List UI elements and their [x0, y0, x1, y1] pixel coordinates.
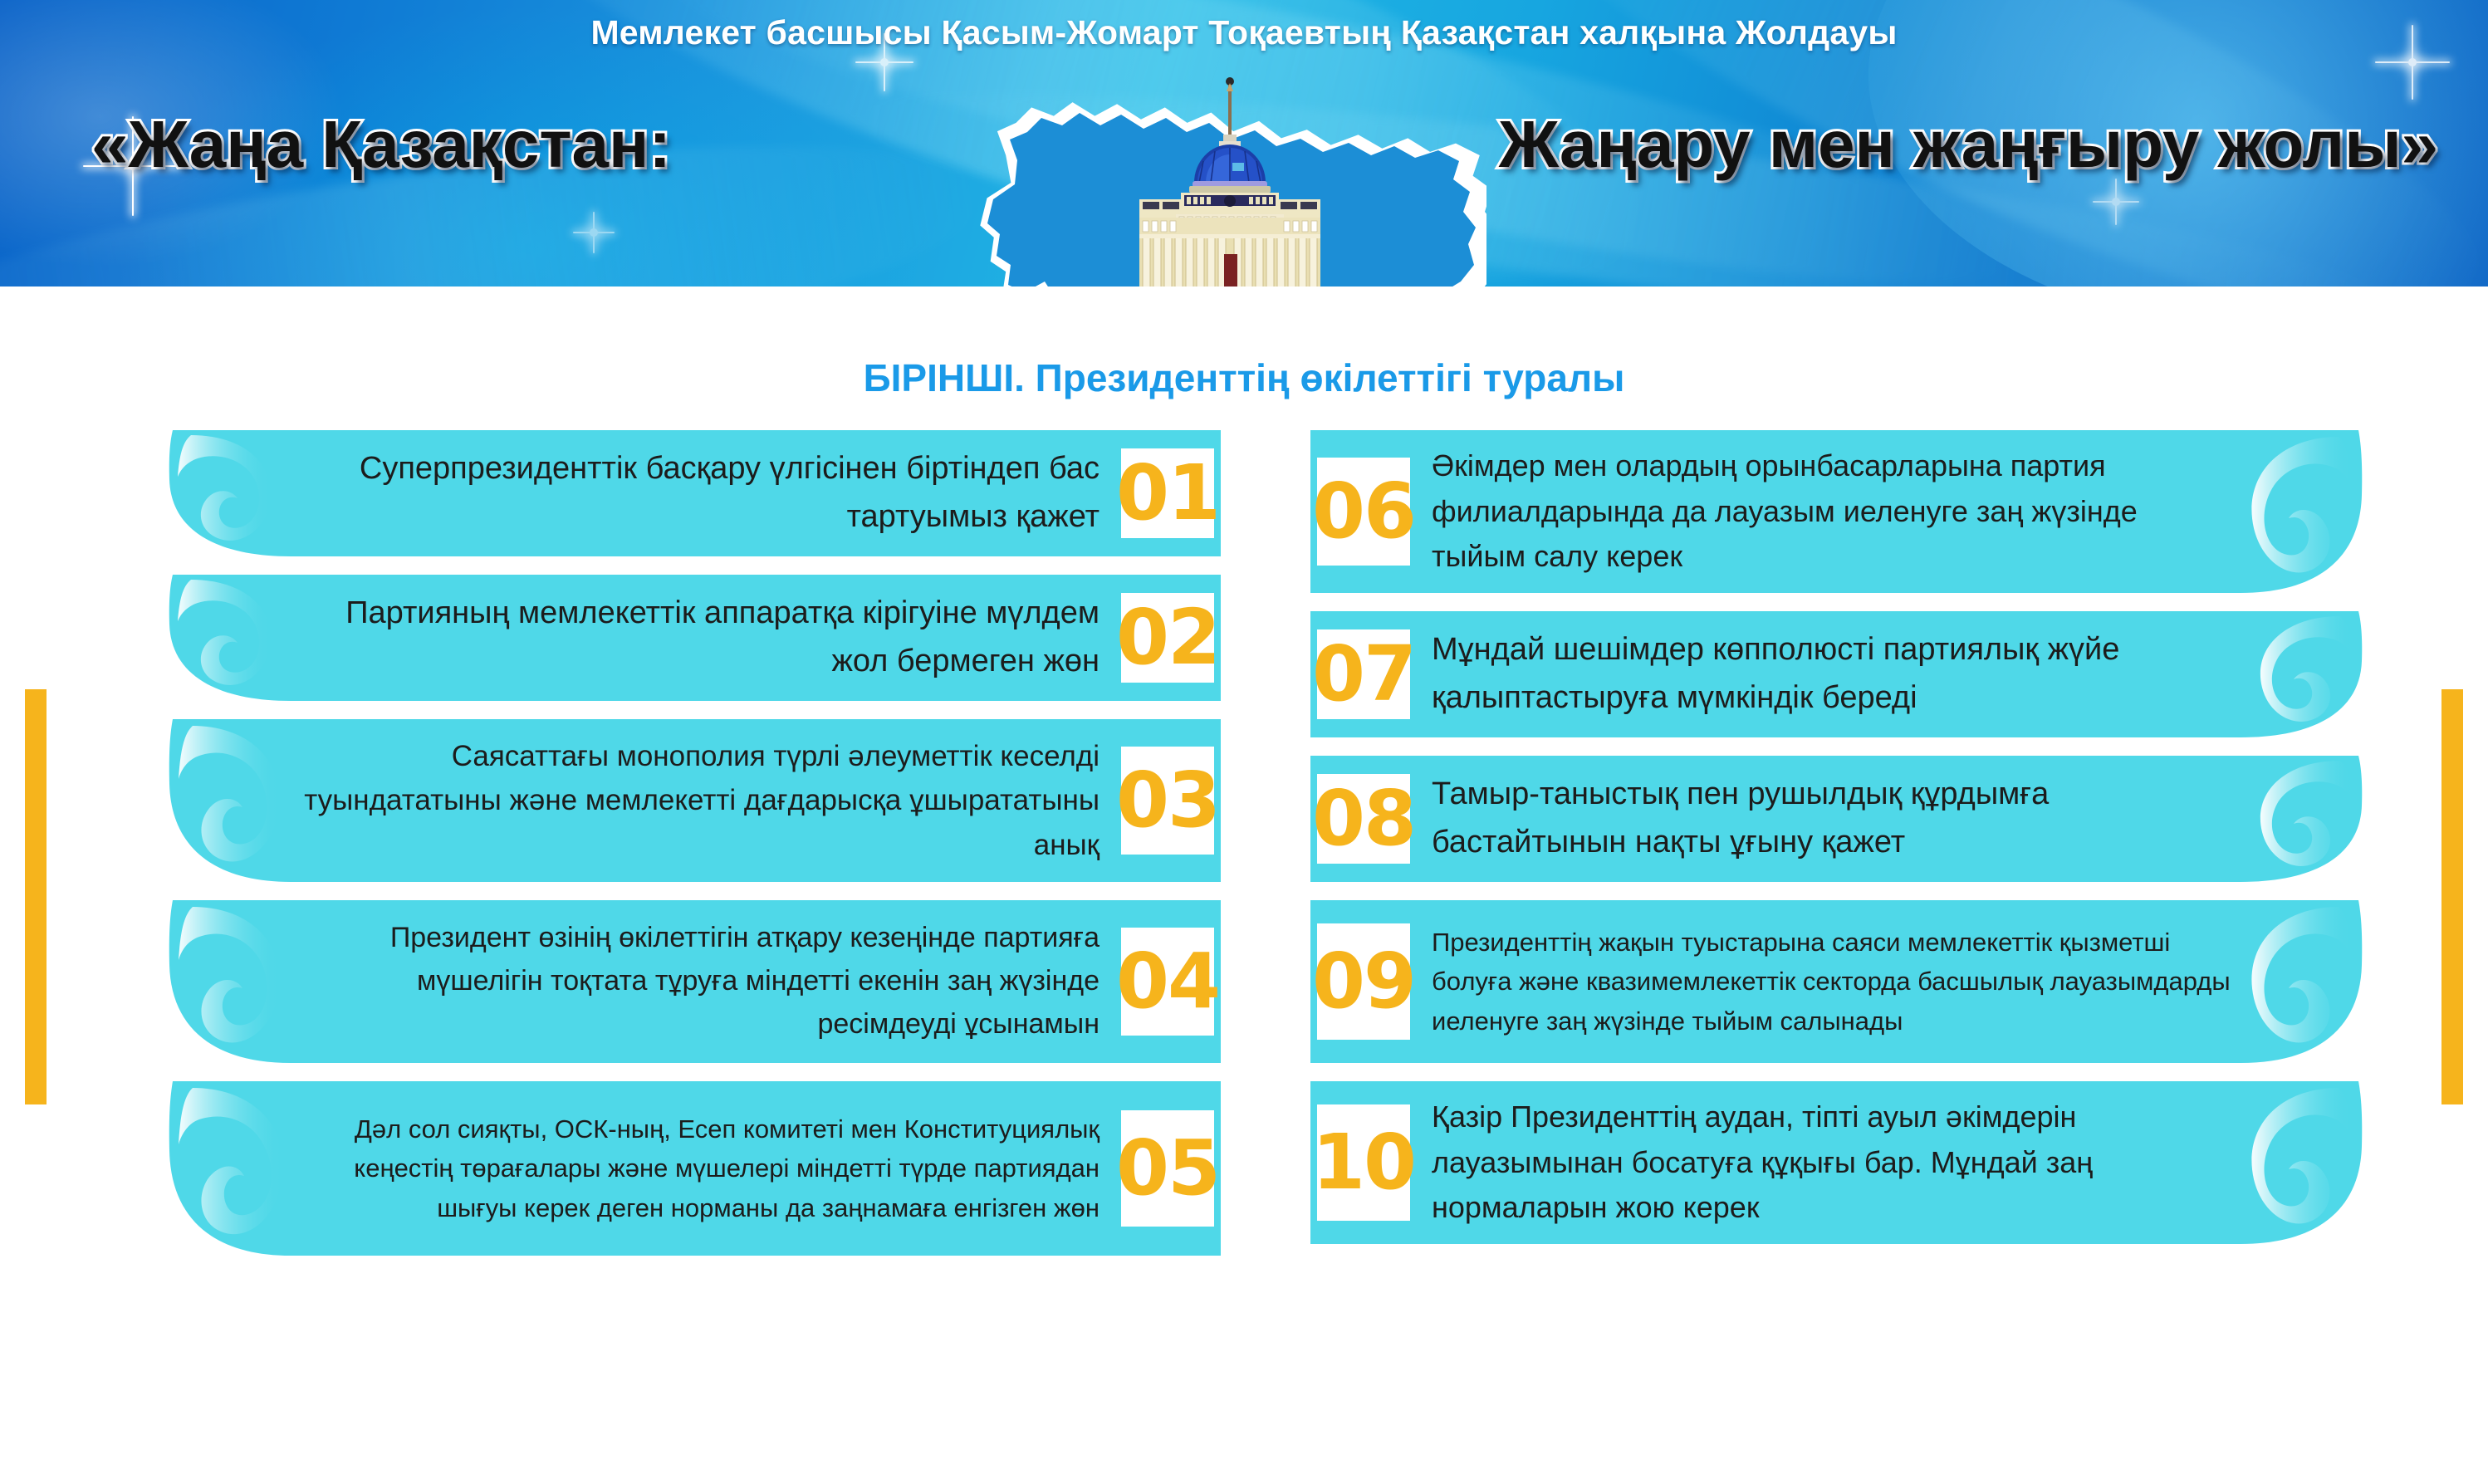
- kazakhstan-map-emblem: [972, 73, 1486, 287]
- item-number: 05: [1121, 1110, 1214, 1227]
- list-item[interactable]: Партияның мемлекеттік аппаратқа кірігуін…: [166, 575, 1221, 701]
- item-text: Суперпрезиденттік басқару үлгісінен бірт…: [173, 445, 1121, 541]
- list-item[interactable]: 08 Тамыр-таныстық пен рушылдық құрдымға …: [1310, 756, 2365, 882]
- list-item[interactable]: 06 Әкімдер мен олардың орынбасарларына п…: [1310, 430, 2365, 593]
- list-item[interactable]: 09 Президенттің жақын туыстарына саяси м…: [1310, 900, 2365, 1063]
- item-number: 08: [1317, 774, 1410, 864]
- header-subtitle: Мемлекет басшысы Қасым-Жомарт Тоқаевтың …: [0, 13, 2488, 52]
- list-item[interactable]: 10 Қазір Президенттің аудан, тіпті ауыл …: [1310, 1081, 2365, 1244]
- section-heading: БІРІНШІ. Президенттің өкілеттігі туралы: [0, 355, 2488, 400]
- item-number: 02: [1121, 593, 1214, 683]
- item-text: Президенттің жақын туыстарына саяси мемл…: [1410, 923, 2358, 1040]
- item-text: Мұндай шешімдер көпполюсті партиялық жүй…: [1410, 626, 2358, 722]
- items-column-left: Суперпрезиденттік басқару үлгісінен бірт…: [166, 430, 1221, 1274]
- header-banner: Мемлекет басшысы Қасым-Жомарт Тоқаевтың …: [0, 0, 2488, 287]
- list-item[interactable]: Дәл сол сияқты, ОСК-ның, Есеп комитеті м…: [166, 1081, 1221, 1256]
- item-number: 03: [1121, 747, 1214, 855]
- item-number: 06: [1317, 458, 1410, 566]
- item-text: Саясаттағы монополия түрлі әлеуметтік ке…: [173, 734, 1121, 867]
- item-text: Дәл сол сияқты, ОСК-ның, Есеп комитеті м…: [173, 1109, 1121, 1227]
- item-text: Әкімдер мен олардың орынбасарларына парт…: [1410, 443, 2358, 580]
- header-title-left: «Жаңа Қазақстан:: [91, 106, 671, 183]
- item-number: 10: [1317, 1104, 1410, 1221]
- item-text: Тамыр-таныстық пен рушылдық құрдымға бас…: [1410, 771, 2358, 867]
- item-number: 09: [1317, 923, 1410, 1040]
- akorda-palace-icon: [1126, 76, 1334, 287]
- list-item[interactable]: Суперпрезиденттік басқару үлгісінен бірт…: [166, 430, 1221, 556]
- accent-bar-right: [2441, 689, 2463, 1104]
- list-item[interactable]: Саясаттағы монополия түрлі әлеуметтік ке…: [166, 719, 1221, 882]
- item-text: Президент өзінің өкілеттігін атқару кезе…: [173, 917, 1121, 1046]
- item-text: Қазір Президенттің аудан, тіпті ауыл әкі…: [1410, 1095, 2358, 1231]
- header-title-right: Жаңару мен жаңғыру жолы»: [1499, 106, 2438, 183]
- item-number: 04: [1121, 928, 1214, 1036]
- list-item[interactable]: Президент өзінің өкілеттігін атқару кезе…: [166, 900, 1221, 1063]
- list-item[interactable]: 07 Мұндай шешімдер көпполюсті партиялық …: [1310, 611, 2365, 737]
- item-number: 01: [1121, 448, 1214, 538]
- items-column-right: 06 Әкімдер мен олардың орынбасарларына п…: [1310, 430, 2365, 1262]
- item-number: 07: [1317, 629, 1410, 719]
- item-text: Партияның мемлекеттік аппаратқа кірігуін…: [173, 590, 1121, 686]
- accent-bar-left: [25, 689, 47, 1104]
